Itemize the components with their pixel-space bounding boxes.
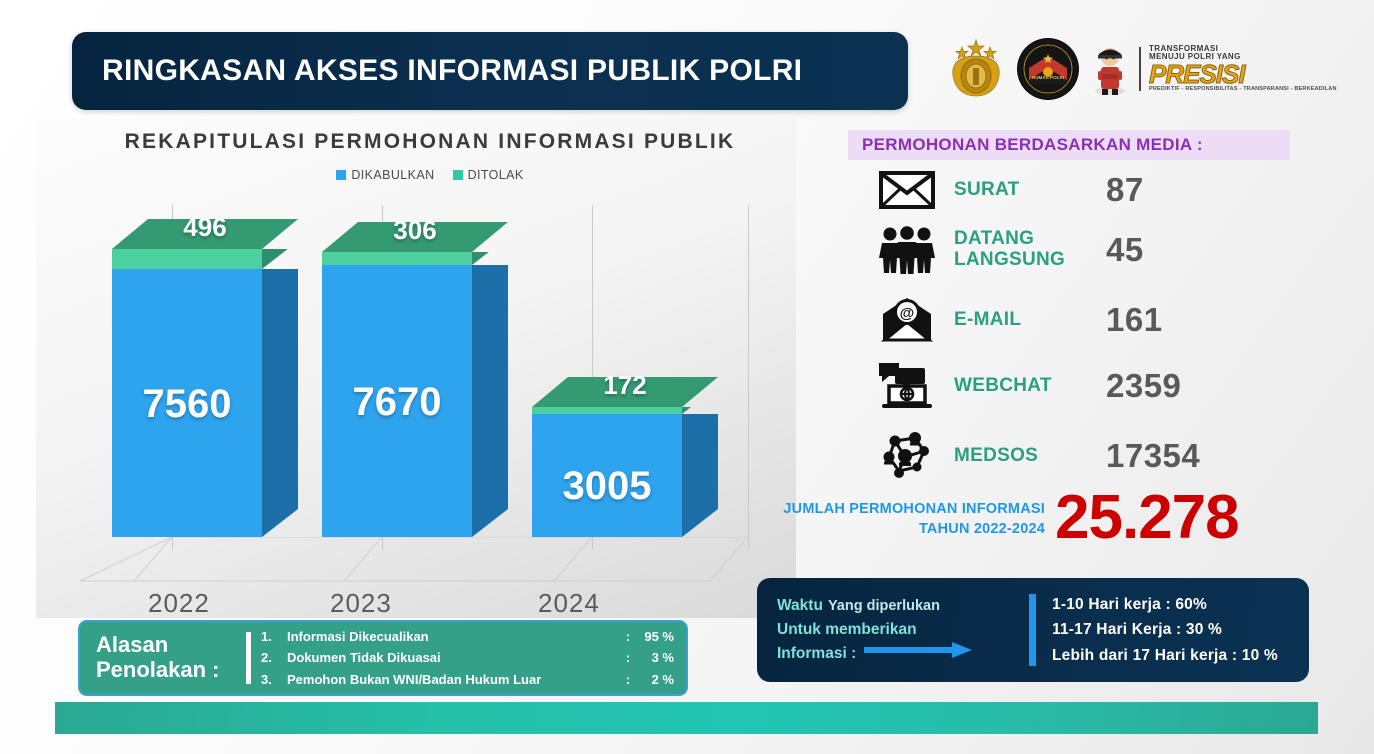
bar-2023-dikabulkan-side <box>472 265 508 537</box>
presisi-divider <box>1139 47 1141 91</box>
alasan-item-percent: 3 % <box>634 647 674 668</box>
media-row-medsos: MEDSOS 17354 <box>870 428 1300 484</box>
webchat-laptop-icon <box>870 358 944 414</box>
alasan-penolakan-box: Alasan Penolakan : 1. Informasi Dikecual… <box>78 620 688 696</box>
total-label-line1: JUMLAH PERMOHONAN INFORMASI <box>755 500 1045 520</box>
bar-2023-value-ditolak: 306 <box>322 215 508 246</box>
bar-2024-ditolak-side <box>682 407 718 414</box>
bar-chart-plot: 7560 496 7670 306 3005 172 <box>60 195 760 585</box>
media-value-email: 161 <box>1106 301 1163 339</box>
bar-2024-value-ditolak: 172 <box>532 370 718 401</box>
alasan-item: 2. Dokumen Tidak Dikuasai : 3 % <box>261 647 674 668</box>
media-row-email: @ E-MAIL 161 <box>870 292 1300 348</box>
svg-text:HUMAS POLRI: HUMAS POLRI <box>1032 75 1064 80</box>
alasan-item-number: 1. <box>261 626 287 647</box>
bar-2023-value-dikabulkan: 7670 <box>322 380 472 425</box>
media-row-surat: SURAT 87 <box>870 162 1300 218</box>
bar-2022-ditolak-side <box>262 249 298 269</box>
media-label-webchat: WEBCHAT <box>954 376 1106 397</box>
bar-2024-ditolak-front <box>532 407 682 414</box>
alasan-item-text: Informasi Dikecualikan <box>287 626 622 647</box>
waktu-divider <box>1029 594 1036 666</box>
alasan-item-colon: : <box>622 626 634 647</box>
humas-polri-logo: HUMAS POLRI <box>1017 38 1079 100</box>
media-label-datang-langsung: DATANG LANGSUNG <box>954 229 1106 270</box>
waktu-line2-text: Untuk memberikan <box>777 618 917 642</box>
media-label-email: E-MAIL <box>954 310 1106 331</box>
media-value-surat: 87 <box>1106 171 1144 209</box>
legend-swatch-ditolak <box>453 170 463 180</box>
legend-label-ditolak: DITOLAK <box>468 168 524 182</box>
arrow-right-icon <box>864 642 972 666</box>
bar-2022-dikabulkan-side <box>262 269 298 537</box>
alasan-item-text: Pemohon Bukan WNI/Badan Hukum Luar <box>287 669 622 690</box>
waktu-line3-text: Informasi : <box>777 642 856 666</box>
alasan-item-number: 2. <box>261 647 287 668</box>
media-value-medsos: 17354 <box>1106 437 1200 475</box>
alasan-item-colon: : <box>622 669 634 690</box>
bar-2023-ditolak-side <box>472 252 508 265</box>
alasan-item-colon: : <box>622 647 634 668</box>
presisi-officer-icon <box>1089 41 1131 97</box>
x-axis-label-2024: 2024 <box>538 588 600 619</box>
total-label-line2: TAHUN 2022-2024 <box>755 520 1045 540</box>
bar-2022-value-dikabulkan: 7560 <box>112 382 262 427</box>
presisi-logo: TRANSFORMASI MENUJU POLRI YANG PRESISI P… <box>1089 40 1337 98</box>
chart-gridline <box>748 205 749 550</box>
bar-2024-value-dikabulkan: 3005 <box>532 464 682 509</box>
media-label-medsos: MEDSOS <box>954 446 1106 467</box>
chart-legend: DIKABULKAN DITOLAK <box>110 168 750 182</box>
waktu-line3: Informasi : <box>777 642 1029 666</box>
svg-text:@: @ <box>900 305 915 322</box>
alasan-item-number: 3. <box>261 669 287 690</box>
alasan-item-percent: 95 % <box>634 626 674 647</box>
header-title-banner: RINGKASAN AKSES INFORMASI PUBLIK POLRI <box>72 32 908 110</box>
alasan-title-line2: Penolakan : <box>96 658 244 683</box>
legend-swatch-dikabulkan <box>336 170 346 180</box>
alasan-penolakan-title: Alasan Penolakan : <box>96 633 244 682</box>
total-label: JUMLAH PERMOHONAN INFORMASI TAHUN 2022-2… <box>755 500 1045 539</box>
waktu-line2: Untuk memberikan <box>777 618 1029 642</box>
waktu-line1-light: Yang diperlukan <box>828 595 940 617</box>
alasan-penolakan-list: 1. Informasi Dikecualikan : 95 % 2. Doku… <box>261 626 686 689</box>
waktu-right-list: 1-10 Hari kerja : 60% 11-17 Hari Kerja :… <box>1052 592 1309 667</box>
media-value-webchat: 2359 <box>1106 367 1181 405</box>
email-at-icon: @ <box>870 292 944 348</box>
envelope-icon <box>870 162 944 218</box>
media-row-webchat: WEBCHAT 2359 <box>870 358 1300 414</box>
media-row-datang-langsung: DATANG LANGSUNG 45 <box>870 222 1300 278</box>
alasan-item-text: Dokumen Tidak Dikuasai <box>287 647 622 668</box>
waktu-item: 11-17 Hari Kerja : 30 % <box>1052 617 1309 642</box>
waktu-box: Waktu Yang diperlukan Untuk memberikan I… <box>757 578 1309 682</box>
alasan-divider <box>246 632 251 684</box>
legend-item-dikabulkan: DIKABULKAN <box>336 168 434 182</box>
bar-2024-dikabulkan-side <box>682 414 718 537</box>
total-value: 25.278 <box>1055 482 1239 553</box>
presisi-wordmark: PRESISI <box>1149 61 1337 87</box>
legend-label-dikabulkan: DIKABULKAN <box>351 168 434 182</box>
media-panel-heading-text: PERMOHONAN BERDASARKAN MEDIA : <box>862 135 1203 155</box>
x-axis-label-2022: 2022 <box>148 588 210 619</box>
waktu-item: Lebih dari 17 Hari kerja : 10 % <box>1052 643 1309 668</box>
polri-emblem-logo <box>945 38 1007 100</box>
alasan-item-percent: 2 % <box>634 669 674 690</box>
alasan-item: 3. Pemohon Bukan WNI/Badan Hukum Luar : … <box>261 669 674 690</box>
media-panel-heading: PERMOHONAN BERDASARKAN MEDIA : <box>848 130 1290 160</box>
alasan-item: 1. Informasi Dikecualikan : 95 % <box>261 626 674 647</box>
media-value-datang-langsung: 45 <box>1106 231 1144 269</box>
chart-title: REKAPITULASI PERMOHONAN INFORMASI PUBLIK <box>110 130 750 154</box>
legend-item-ditolak: DITOLAK <box>453 168 524 182</box>
media-label-surat: SURAT <box>954 180 1106 201</box>
chart-floor <box>60 537 760 585</box>
people-group-icon <box>870 222 944 278</box>
x-axis-label-2023: 2023 <box>330 588 392 619</box>
waktu-left-text: Waktu Yang diperlukan Untuk memberikan I… <box>777 594 1029 666</box>
bar-2022-value-ditolak: 496 <box>112 212 298 243</box>
logo-group: HUMAS POLRI TRANSFORMASI MENUJU PO <box>945 28 1345 110</box>
bar-2022-ditolak-front <box>112 249 262 269</box>
footer-accent-bar <box>55 702 1318 734</box>
presisi-tagline: PREDIKTIF - RESPONSIBILITAS - TRANSPARAN… <box>1149 87 1337 93</box>
waktu-item: 1-10 Hari kerja : 60% <box>1052 592 1309 617</box>
waktu-line1-strong: Waktu <box>777 594 823 618</box>
waktu-line1: Waktu Yang diperlukan <box>777 594 1029 618</box>
bar-2023-ditolak-front <box>322 252 472 265</box>
page-title: RINGKASAN AKSES INFORMASI PUBLIK POLRI <box>102 54 802 88</box>
social-network-icon <box>870 428 944 484</box>
alasan-title-line1: Alasan <box>96 633 244 658</box>
